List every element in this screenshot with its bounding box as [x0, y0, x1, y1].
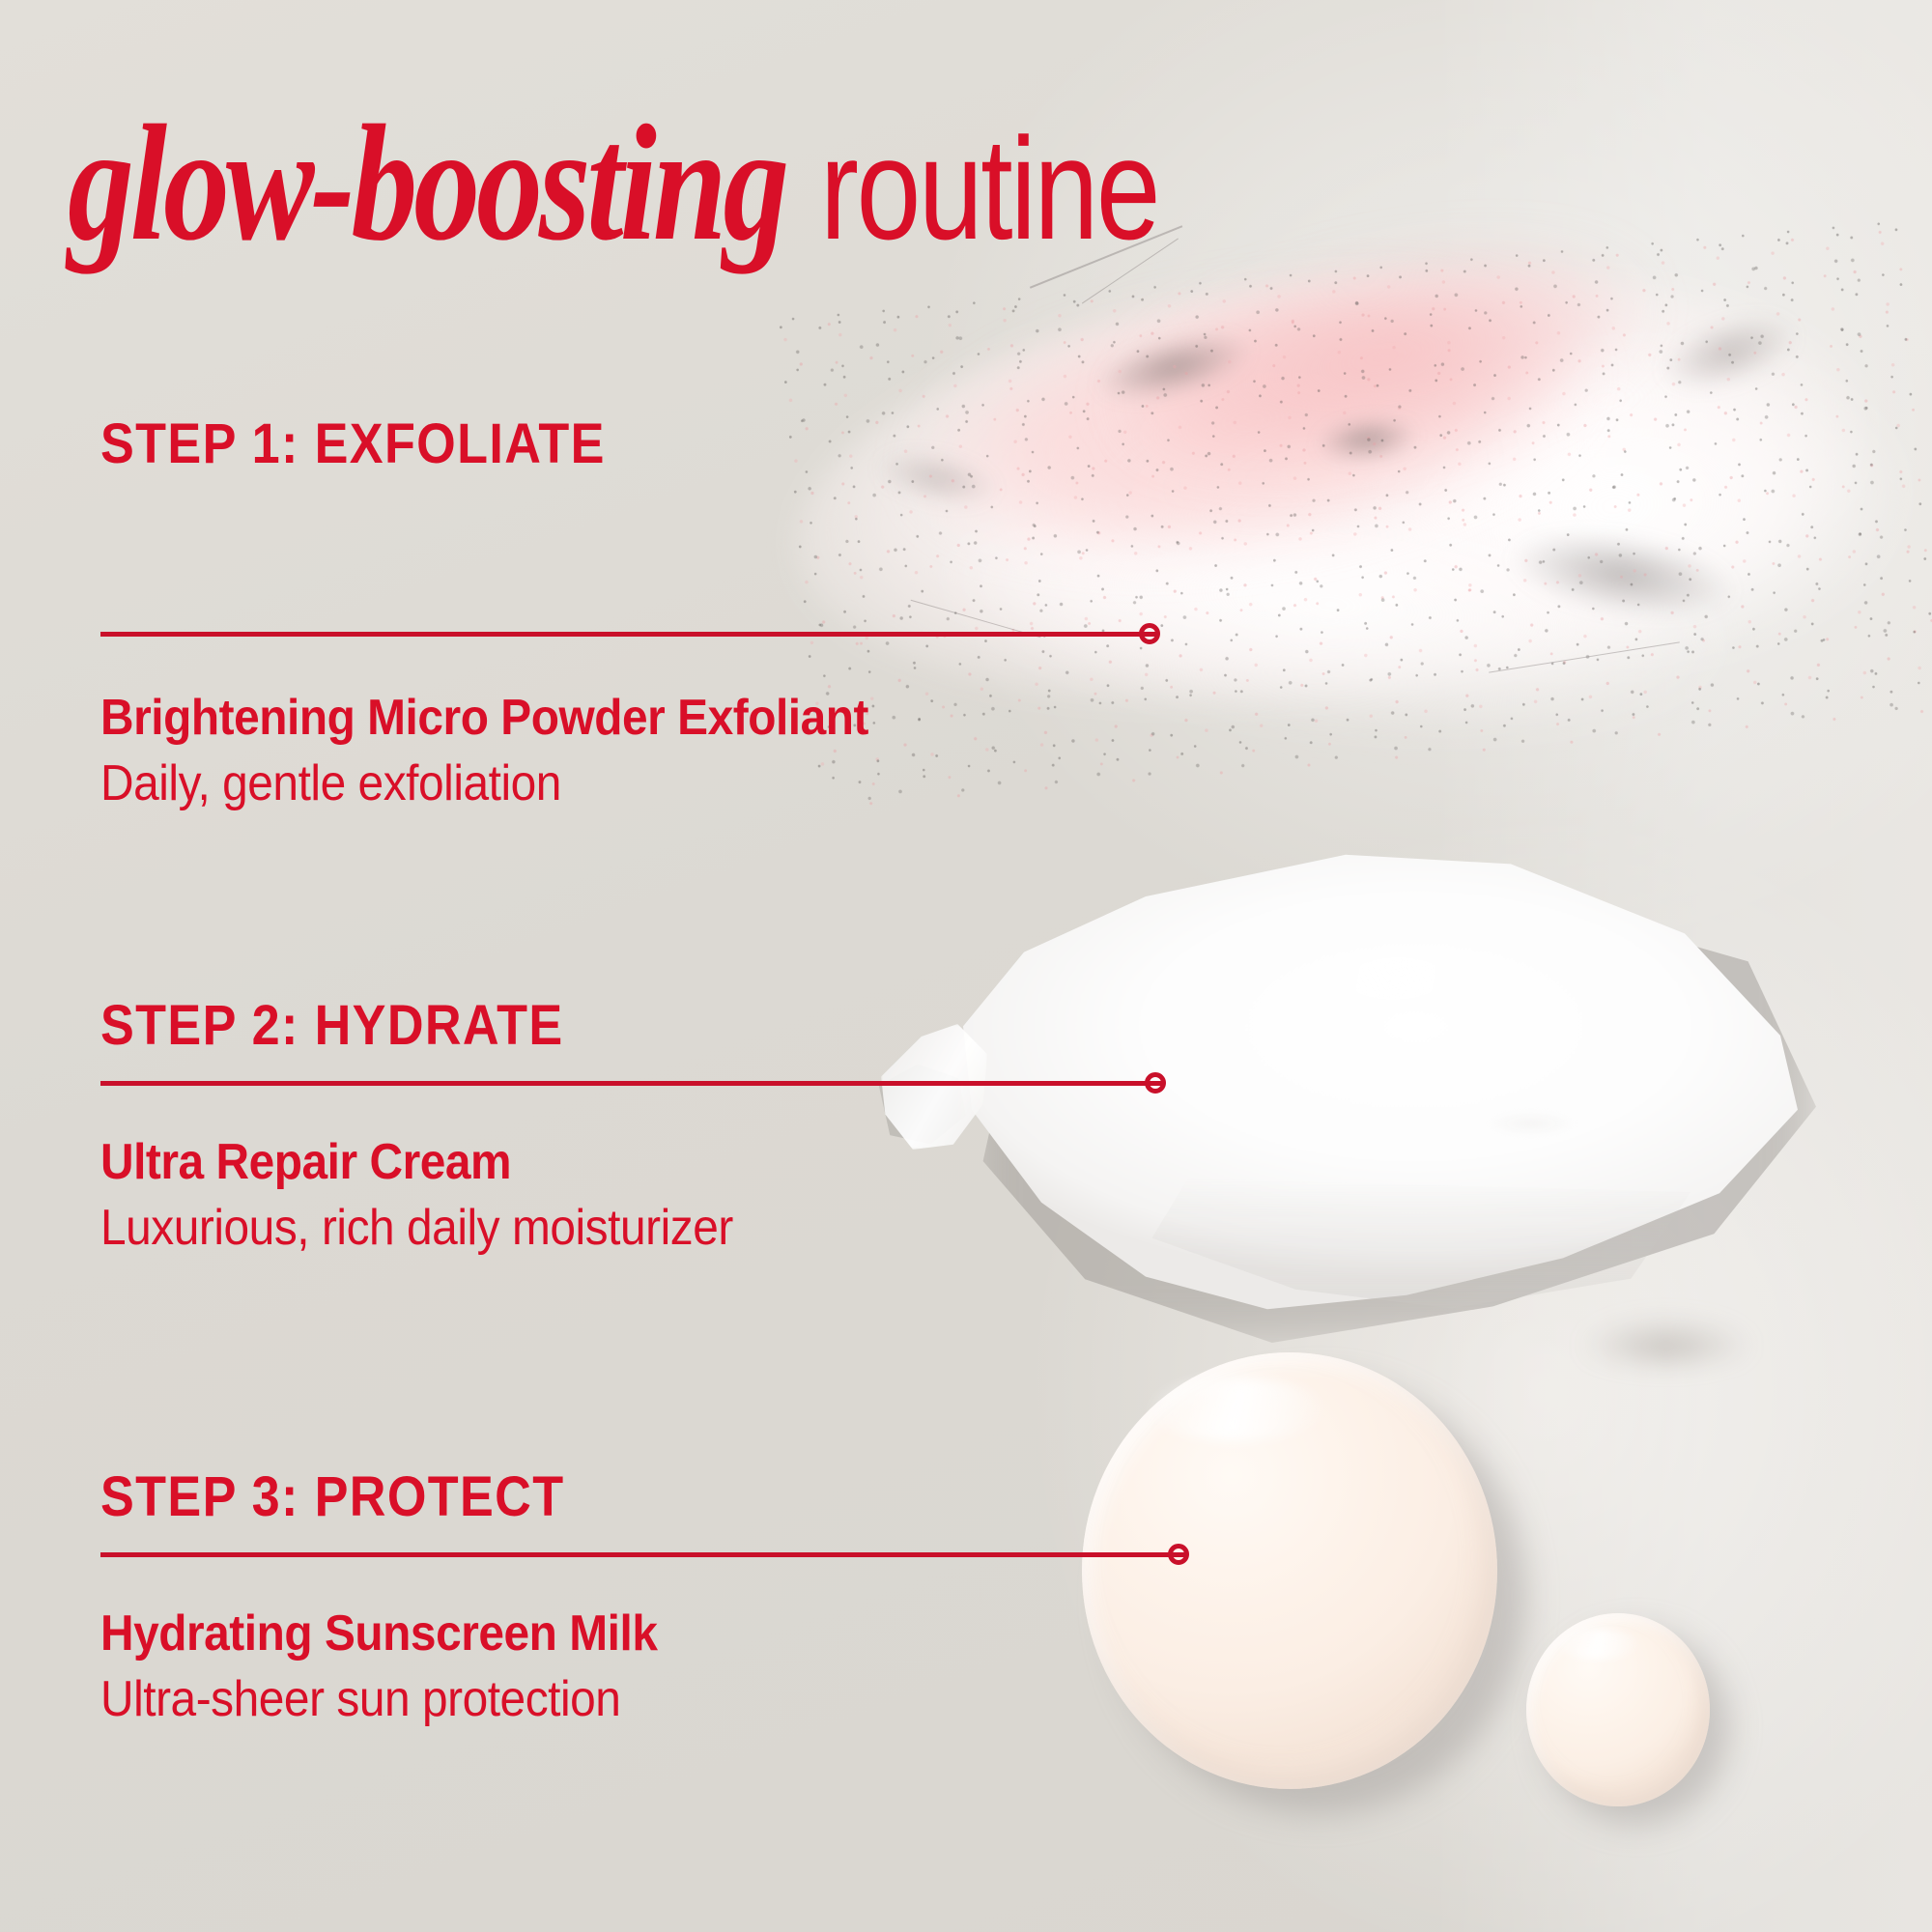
step-1-connector [100, 623, 1159, 642]
background-seam-highlight [1430, 0, 1932, 1932]
large-droplet-shadow [1111, 1379, 1526, 1814]
step-3-product-name: Hydrating Sunscreen Milk [100, 1606, 657, 1662]
powder-dark-fleck [1462, 498, 1783, 652]
page-title: glow-boostingroutine [68, 100, 1243, 267]
step-3-connector [100, 1544, 1188, 1563]
step-1-text: Brightening Micro Powder Exfoliant Daily… [100, 691, 935, 813]
step-1-description: Daily, gentle exfoliation [100, 755, 868, 813]
step-2-rule [100, 1081, 1165, 1086]
step-3-description: Ultra-sheer sun protection [100, 1671, 657, 1729]
cream-drop-shadow [966, 889, 1816, 1343]
step-3-text: Hydrating Sunscreen Milk Ultra-sheer sun… [100, 1606, 706, 1729]
powder-stray-fiber [1489, 641, 1680, 672]
step-2-text: Ultra Repair Cream Luxurious, rich daily… [100, 1135, 788, 1258]
droplet-smudge [1555, 1294, 1777, 1362]
cream-edge-shading [1140, 1179, 1739, 1314]
step-3-block: STEP 3: PROTECT [100, 1468, 616, 1527]
powder-core-blob [771, 215, 1895, 759]
powder-dark-fleck [845, 427, 1030, 529]
step-2-description: Luxurious, rich daily moisturizer [100, 1200, 733, 1258]
step-2-heading: STEP 2: HYDRATE [100, 997, 564, 1056]
powder-spread-right [1339, 297, 1932, 747]
step-3-rule [100, 1552, 1188, 1557]
small-droplet [1526, 1613, 1710, 1806]
powder-dark-fleck [1624, 281, 1834, 423]
cream-highlight [1314, 956, 1478, 1001]
step-2-product-name: Ultra Repair Cream [100, 1135, 733, 1190]
page-title-script: glow-boosting [68, 100, 785, 267]
large-droplet [1082, 1352, 1497, 1789]
step-2-endpoint-ring [1145, 1072, 1166, 1094]
small-droplet-highlight [1557, 1629, 1638, 1660]
step-1-endpoint-ring [1139, 623, 1160, 644]
large-droplet-highlight [1150, 1378, 1323, 1441]
powder-dark-fleck [1292, 403, 1441, 475]
cream-highlight [1488, 1111, 1575, 1136]
step-1-product-name: Brightening Micro Powder Exfoliant [100, 691, 868, 746]
step-1-block: STEP 1: EXFOLIATE [100, 415, 662, 474]
page-title-plain: routine [820, 116, 1158, 261]
white-cream-swatch [908, 831, 1932, 1391]
step-3-endpoint-ring [1168, 1544, 1189, 1565]
infographic-canvas: glow-boostingroutine STEP 1: EXFOLIATE B… [0, 0, 1932, 1932]
step-1-rule [100, 632, 1159, 637]
step-1-heading: STEP 1: EXFOLIATE [100, 415, 606, 474]
step-3-heading: STEP 3: PROTECT [100, 1468, 564, 1527]
sunscreen-milk-droplets [1043, 1333, 1932, 1932]
powder-grain-speckle [773, 213, 1932, 812]
small-droplet-shadow [1544, 1631, 1729, 1824]
step-2-connector [100, 1072, 1165, 1092]
step-2-block: STEP 2: HYDRATE [100, 997, 615, 1056]
powder-dark-fleck [1057, 302, 1292, 431]
